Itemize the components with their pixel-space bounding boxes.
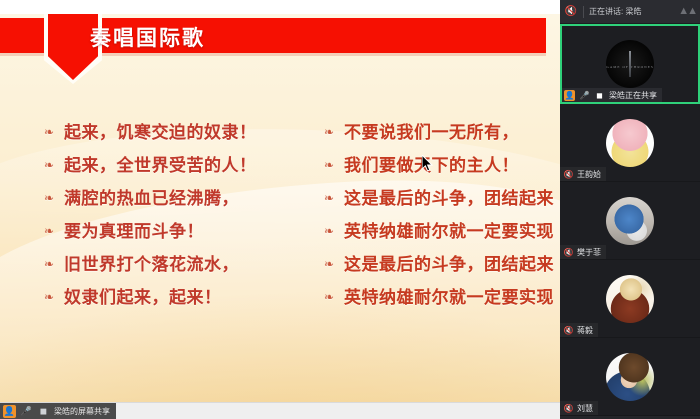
lyric-line: ❧旧世界打个落花流水， <box>44 250 314 283</box>
mic-muted-icon: 🔇 <box>563 325 574 336</box>
shared-screen-region: 奏唱国际歌 ❧起来，饥寒交迫的奴隶！❧起来，全世界受苦的人！❧满腔的热血已经沸腾… <box>0 0 560 419</box>
participant-name-badge: 🔇刘慧 <box>560 401 598 415</box>
slide-title: 奏唱国际歌 <box>90 22 205 52</box>
lyric-bullet-icon: ❧ <box>44 224 64 238</box>
lyric-line: ❧起来，全世界受苦的人！ <box>44 151 314 184</box>
microphone-icon[interactable]: 🎤 <box>579 90 590 101</box>
lyric-line: ❧奴隶们起来，起来！ <box>44 283 314 316</box>
lyric-text: 满腔的热血已经沸腾， <box>64 184 239 209</box>
person-icon: 👤 <box>3 405 16 418</box>
lyric-bullet-icon: ❧ <box>324 224 344 238</box>
lyric-text: 要为真理而斗争！ <box>64 217 204 242</box>
anime-character-avatar <box>606 353 654 401</box>
got-logo-avatar: GAME OF THRONES <box>606 40 654 88</box>
lyric-text: 这是最后的斗争，团结起来 <box>344 184 554 209</box>
participant-tile[interactable]: 🔇蒋毅 <box>560 260 700 338</box>
lyric-bullet-icon: ❧ <box>324 290 344 304</box>
lyric-line: ❧英特纳雄耐尔就一定要实现 <box>324 283 560 316</box>
participant-sidebar: 🔇 正在讲话: 梁皓 ▲▲ GAME OF THRONES👤🎤◼梁皓正在共享🔇王… <box>560 0 700 419</box>
chevron-collapse-icon[interactable]: ▲▲ <box>678 5 696 17</box>
sidebar-header: 🔇 正在讲话: 梁皓 ▲▲ <box>560 0 700 24</box>
participant-name-badge: 🔇王韵姶 <box>560 167 606 181</box>
participant-tile[interactable]: 🔇王韵姶 <box>560 104 700 182</box>
knight-illustration-avatar <box>606 275 654 323</box>
lyric-text: 英特纳雄耐尔就一定要实现 <box>344 283 554 308</box>
lyric-line: ❧满腔的热血已经沸腾， <box>44 184 314 217</box>
participant-name: 王韵姶 <box>577 169 601 180</box>
lyric-bullet-icon: ❧ <box>324 191 344 205</box>
screen-share-meeting-window: 奏唱国际歌 ❧起来，饥寒交迫的奴隶！❧起来，全世界受苦的人！❧满腔的热血已经沸腾… <box>0 0 700 419</box>
participant-name-badge: 🔇樊于菲 <box>560 245 606 259</box>
lyric-bullet-icon: ❧ <box>44 158 64 172</box>
screen-share-status-pill[interactable]: 👤 🎤 ◼ 梁皓的屏幕共享 <box>0 403 116 419</box>
header-divider <box>583 6 584 18</box>
person-icon: 👤 <box>564 90 575 101</box>
lyric-text: 我们要做天下的主人！ <box>344 151 519 176</box>
lyric-bullet-icon: ❧ <box>44 257 64 271</box>
mic-muted-icon: 🔇 <box>563 247 574 258</box>
lyric-bullet-icon: ❧ <box>44 191 64 205</box>
lyric-line: ❧这是最后的斗争，团结起来 <box>324 250 560 283</box>
participant-name: 梁皓正在共享 <box>609 90 657 101</box>
lyric-bullet-icon: ❧ <box>44 125 64 139</box>
participant-name-badge: 🔇蒋毅 <box>560 323 598 337</box>
participant-name-badge: 👤🎤◼梁皓正在共享 <box>562 88 662 102</box>
lyric-text: 不要说我们一无所有， <box>344 118 519 143</box>
pig-cartoon-avatar <box>606 119 654 167</box>
lyric-text: 起来，饥寒交迫的奴隶！ <box>64 118 257 143</box>
lyric-line: ❧英特纳雄耐尔就一定要实现 <box>324 217 560 250</box>
participant-name: 刘慧 <box>577 403 593 414</box>
shared-screen-taskbar: 👤 🎤 ◼ 梁皓的屏幕共享 <box>0 402 560 419</box>
avatar-caption: GAME OF THRONES <box>606 65 654 69</box>
participant-tile[interactable]: GAME OF THRONES👤🎤◼梁皓正在共享 <box>560 24 700 104</box>
mic-muted-icon: 🔇 <box>563 169 574 180</box>
lyric-line: ❧起来，饥寒交迫的奴隶！ <box>44 118 314 151</box>
lyric-line: ❧要为真理而斗争！ <box>44 217 314 250</box>
microphone-icon[interactable]: 🎤 <box>20 405 33 418</box>
lyric-bullet-icon: ❧ <box>44 290 64 304</box>
participant-tile[interactable]: 🔇刘慧 <box>560 338 700 416</box>
camera-icon[interactable]: ◼ <box>37 405 50 418</box>
camera-icon[interactable]: ◼ <box>594 90 605 101</box>
mic-muted-icon: 🔇 <box>563 403 574 414</box>
active-speaker-label: 正在讲话: 梁皓 <box>589 6 641 17</box>
mic-muted-icon: 🔇 <box>564 5 578 19</box>
participant-name: 蒋毅 <box>577 325 593 336</box>
blue-cone-photo-avatar <box>606 197 654 245</box>
screen-share-status-label: 梁皓的屏幕共享 <box>54 406 110 417</box>
lyric-bullet-icon: ❧ <box>324 125 344 139</box>
lyric-text: 英特纳雄耐尔就一定要实现 <box>344 217 554 242</box>
lyric-text: 起来，全世界受苦的人！ <box>64 151 257 176</box>
lyrics-column-left: ❧起来，饥寒交迫的奴隶！❧起来，全世界受苦的人！❧满腔的热血已经沸腾，❧要为真理… <box>44 118 314 316</box>
lyric-text: 这是最后的斗争，团结起来 <box>344 250 554 275</box>
lyric-bullet-icon: ❧ <box>324 158 344 172</box>
participant-tile[interactable]: 🔇樊于菲 <box>560 182 700 260</box>
lyric-line: ❧不要说我们一无所有， <box>324 118 560 151</box>
participant-tiles-list: GAME OF THRONES👤🎤◼梁皓正在共享🔇王韵姶🔇樊于菲🔇蒋毅🔇刘慧 <box>560 24 700 416</box>
lyric-text: 旧世界打个落花流水， <box>64 250 239 275</box>
lyrics-column-right: ❧不要说我们一无所有，❧我们要做天下的主人！❧这是最后的斗争，团结起来❧英特纳雄… <box>324 118 560 316</box>
lyric-line: ❧我们要做天下的主人！ <box>324 151 560 184</box>
lyric-text: 奴隶们起来，起来！ <box>64 283 222 308</box>
lyric-bullet-icon: ❧ <box>324 257 344 271</box>
lyric-line: ❧这是最后的斗争，团结起来 <box>324 184 560 217</box>
participant-name: 樊于菲 <box>577 247 601 258</box>
